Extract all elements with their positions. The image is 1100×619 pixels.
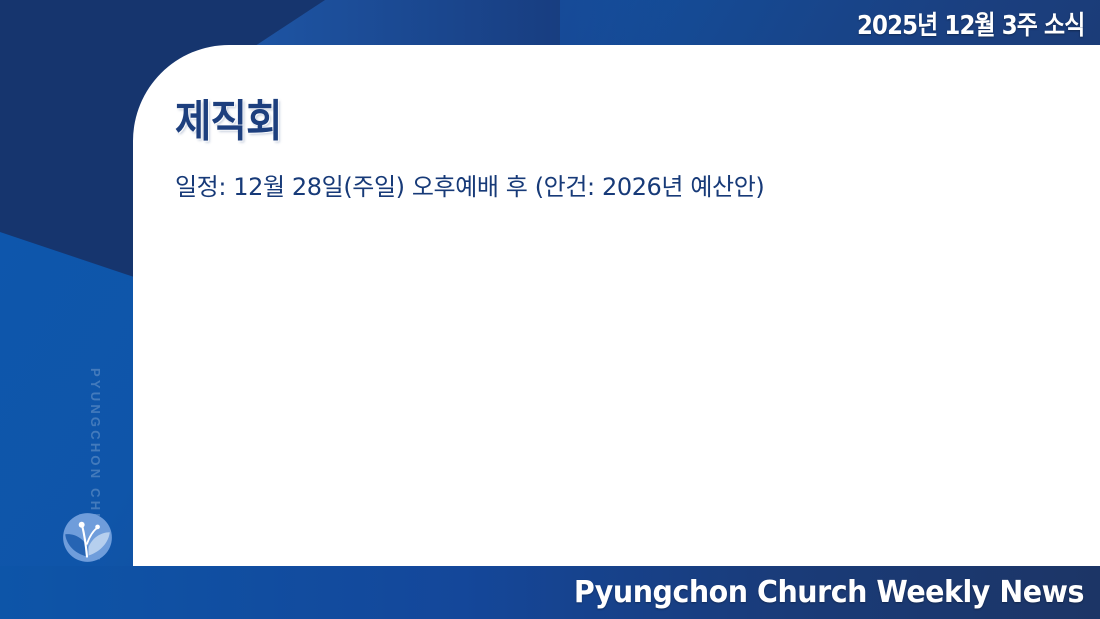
footer-title: Pyungchon Church Weekly News — [574, 575, 1084, 610]
content-card: 제직회 일정: 12월 28일(주일) 오후예배 후 (안건: 2026년 예산… — [133, 45, 1100, 566]
footer-band: Pyungchon Church Weekly News — [0, 566, 1100, 619]
announcement-body-text: 일정: 12월 28일(주일) 오후예배 후 (안건: 2026년 예산안) — [175, 169, 1060, 205]
page-title: 제직회 — [175, 85, 282, 149]
slide-canvas: 2025년 12월 3주 소식 PYUNGCHON CHURCH 제직회 일정:… — [0, 0, 1100, 619]
header-title: 2025년 12월 3주 소식 — [857, 5, 1084, 42]
header-band: 2025년 12월 3주 소식 — [0, 0, 1100, 46]
church-logo-icon — [61, 511, 114, 564]
